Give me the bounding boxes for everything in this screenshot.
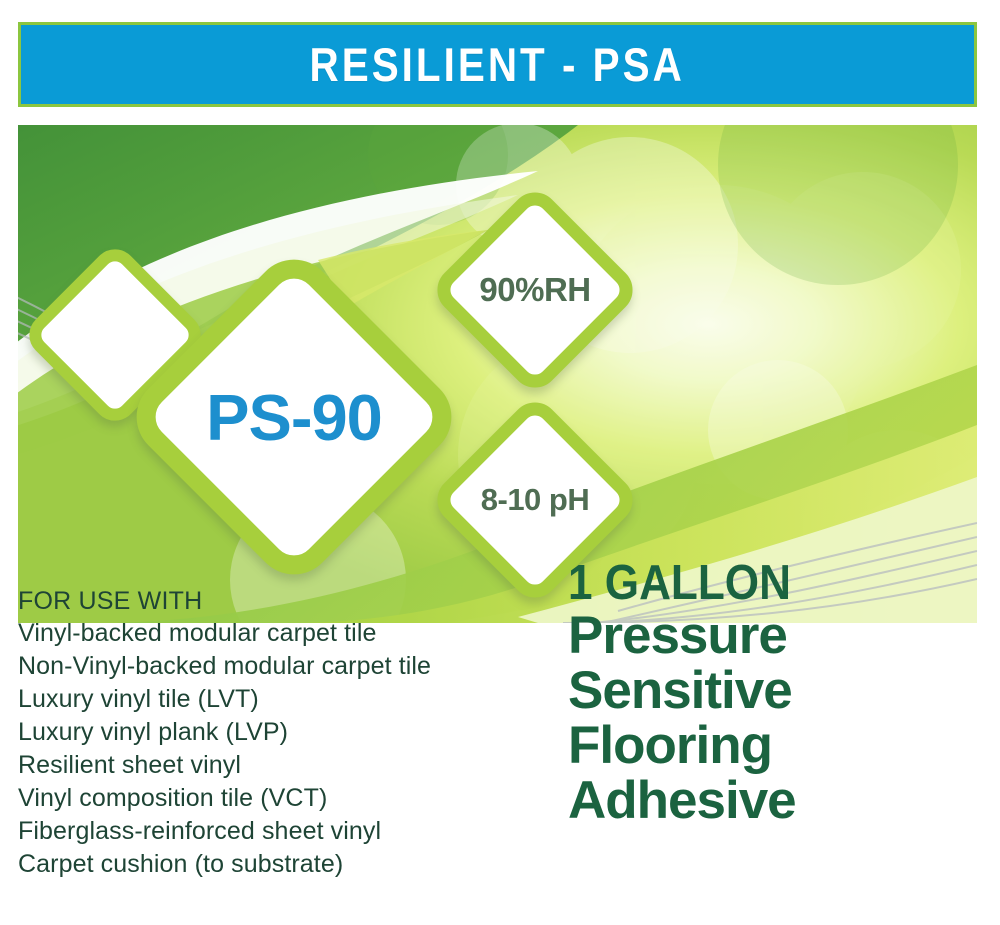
list-item: Resilient sheet vinyl xyxy=(18,749,538,782)
list-item: Vinyl composition tile (VCT) xyxy=(18,782,538,815)
page-title: RESILIENT - PSA xyxy=(310,37,685,92)
product-name-line: Pressure xyxy=(568,608,988,663)
badge-ph-label: 8-10 pH xyxy=(472,437,598,563)
badge-product-code-label: PS-90 xyxy=(190,313,398,521)
for-use-with-heading: FOR USE WITH xyxy=(18,585,538,617)
header-banner: RESILIENT - PSA xyxy=(18,22,977,107)
list-item: Carpet cushion (to substrate) xyxy=(18,848,538,881)
product-name-line: Sensitive xyxy=(568,663,988,718)
list-item: Non-Vinyl-backed modular carpet tile xyxy=(18,650,538,683)
product-description-block: 1 GALLON Pressure Sensitive Flooring Adh… xyxy=(568,558,988,828)
list-item: Vinyl-backed modular carpet tile xyxy=(18,617,538,650)
product-label: RESILIENT - PSA xyxy=(0,0,1000,925)
for-use-with-list: Vinyl-backed modular carpet tile Non-Vin… xyxy=(18,617,538,881)
for-use-with-block: FOR USE WITH Vinyl-backed modular carpet… xyxy=(18,585,538,881)
product-name-line: Flooring xyxy=(568,718,988,773)
list-item: Fiberglass-reinforced sheet vinyl xyxy=(18,815,538,848)
list-item: Luxury vinyl tile (LVT) xyxy=(18,683,538,716)
product-volume: 1 GALLON xyxy=(568,558,946,608)
list-item: Luxury vinyl plank (LVP) xyxy=(18,716,538,749)
badge-humidity-label: 90%RH xyxy=(472,227,598,353)
product-name-line: Adhesive xyxy=(568,773,988,828)
